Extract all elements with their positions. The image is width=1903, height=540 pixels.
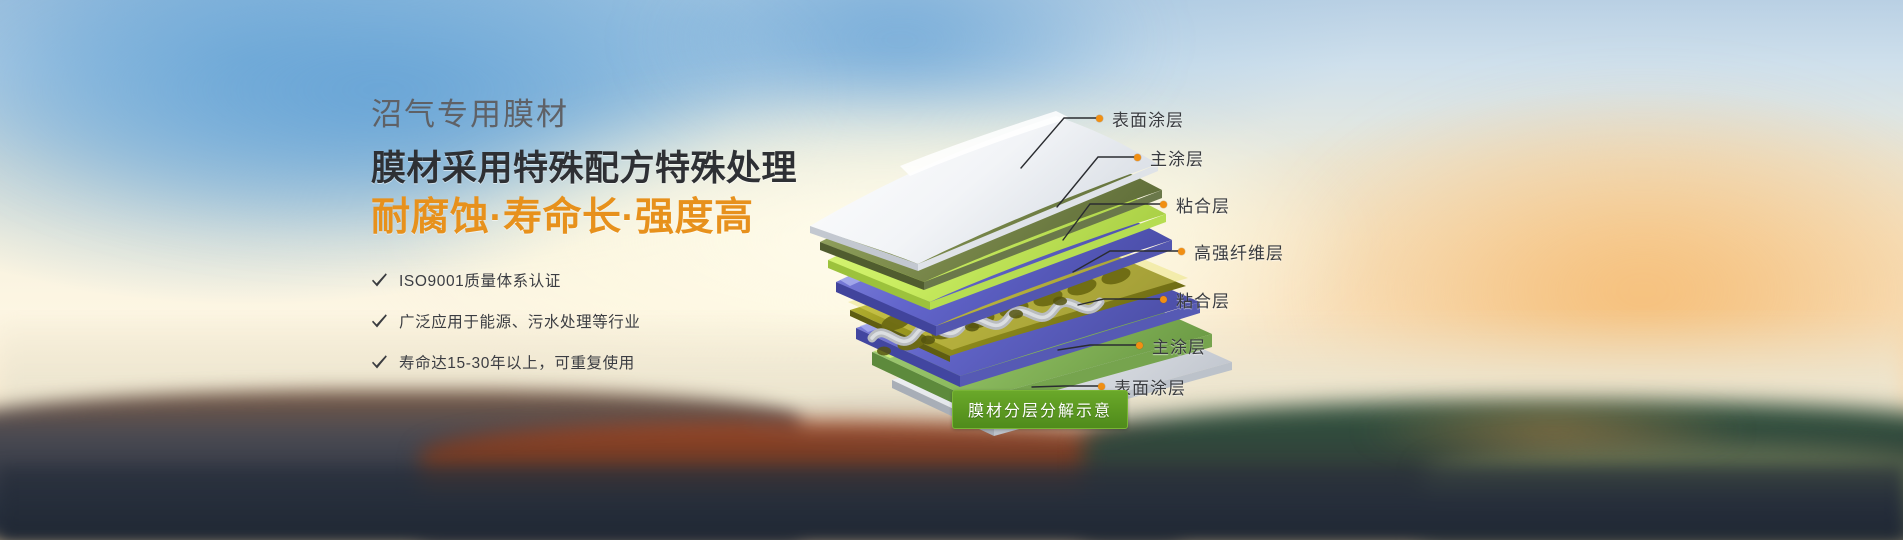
callout-label-text: 粘合层 (1176, 287, 1230, 312)
callout-bond-top[interactable]: 粘合层 (1160, 192, 1230, 217)
callout-main-coat-top[interactable]: 主涂层 (1134, 145, 1204, 170)
diagram-caption-text: 膜材分层分解示意 (968, 403, 1112, 420)
callout-label-text: 主涂层 (1152, 333, 1206, 358)
callout-bond-bottom[interactable]: 粘合层 (1160, 287, 1230, 312)
callout-dot-icon (1136, 342, 1143, 349)
callout-fiber-core[interactable]: 高强纤维层 (1178, 239, 1284, 264)
check-mark-icon (371, 312, 388, 329)
callout-label-text: 粘合层 (1176, 192, 1230, 217)
callout-label-text: 高强纤维层 (1194, 239, 1284, 264)
callout-surface-coat-top[interactable]: 表面涂层 (1096, 106, 1184, 131)
callout-dot-icon (1160, 201, 1167, 208)
terrain-foreground (0, 466, 1903, 540)
callout-label-text: 主涂层 (1150, 145, 1204, 170)
feature-item-label: 寿命达15-30年以上，可重复使用 (399, 351, 635, 373)
feature-item-label: ISO9001质量体系认证 (399, 269, 561, 291)
callout-label-text: 表面涂层 (1112, 106, 1184, 131)
callout-dot-icon (1160, 296, 1167, 303)
check-mark-icon (371, 353, 388, 370)
callout-dot-icon (1178, 248, 1185, 255)
terrain-glow-right (1293, 390, 1813, 470)
feature-item-label: 广泛应用于能源、污水处理等行业 (399, 310, 641, 332)
callout-main-coat-bottom[interactable]: 主涂层 (1136, 333, 1206, 358)
diagram-caption-badge: 膜材分层分解示意 (952, 390, 1128, 429)
callout-dot-icon (1134, 154, 1141, 161)
callout-dot-icon (1098, 383, 1105, 390)
callout-dot-icon (1096, 115, 1103, 122)
hero-banner: 沼气专用膜材 膜材采用特殊配方特殊处理 耐腐蚀·寿命长·强度高 ISO9001质… (0, 0, 1903, 540)
check-mark-icon (371, 271, 388, 288)
